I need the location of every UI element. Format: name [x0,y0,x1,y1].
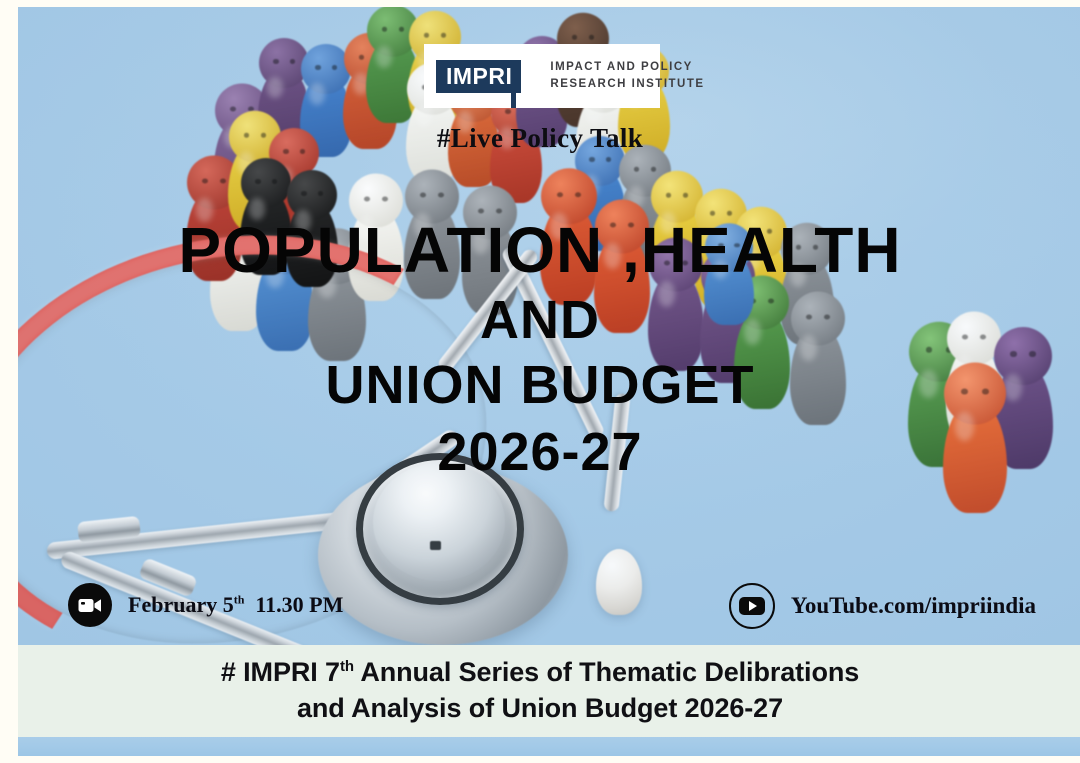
youtube-handle[interactable]: YouTube.com/impriindia [791,593,1036,619]
impri-logo-mark-text: IMPRI [446,63,512,89]
poster-title: POPULATION ,HEALTH AND UNION BUDGET 2026… [0,218,1080,481]
footer-line-1-pre: # IMPRI 7 [221,657,340,687]
footer-band: # IMPRI 7th Annual Series of Thematic De… [0,645,1080,737]
poster-root: IMPRI IMPACT AND POLICY RESEARCH INSTITU… [0,0,1080,763]
top-margin-strip [0,0,1080,7]
left-margin-strip [0,0,18,763]
stethoscope-center-dot [430,541,441,550]
impri-logo: IMPRI IMPACT AND POLICY RESEARCH INSTITU… [424,44,660,108]
event-info-row: February 5th 11.30 PM YouTube.com/imprii… [18,583,1080,635]
footer-ordinal: th [340,658,354,675]
youtube-play-icon[interactable] [729,583,775,629]
event-date-ordinal: th [234,593,245,607]
youtube-badge [739,597,765,615]
bottom-white-strip [0,756,1080,763]
event-date-time-text: February 5th 11.30 PM [128,592,343,618]
title-line-2: AND [0,293,1080,348]
live-policy-talk-hashtag: #Live Policy Talk [0,123,1080,154]
footer-line-2: and Analysis of Union Budget 2026-27 [297,691,783,727]
youtube-link[interactable]: YouTube.com/impriindia [729,583,1036,629]
title-line-1: POPULATION ,HEALTH [0,218,1080,283]
footer-line-1-post: Annual Series of Thematic Delibrations [354,657,859,687]
bottom-blue-strip [18,737,1080,756]
impri-logo-line1: IMPACT AND POLICY [550,59,704,76]
title-line-3: UNION BUDGET [0,358,1080,413]
title-line-4: 2026-27 [0,425,1080,480]
play-triangle-icon [749,601,757,611]
impri-logo-line2: RESEARCH INSTITUTE [550,76,704,93]
event-time: 11.30 PM [255,592,343,617]
impri-logo-fullname: IMPACT AND POLICY RESEARCH INSTITUTE [550,59,704,92]
footer-line-1: # IMPRI 7th Annual Series of Thematic De… [221,655,859,691]
event-datetime: February 5th 11.30 PM [68,583,343,627]
impri-logo-tail [511,66,516,108]
video-camera-icon [68,583,112,627]
event-date: February 5 [128,592,234,617]
impri-logo-mark: IMPRI [436,60,521,93]
